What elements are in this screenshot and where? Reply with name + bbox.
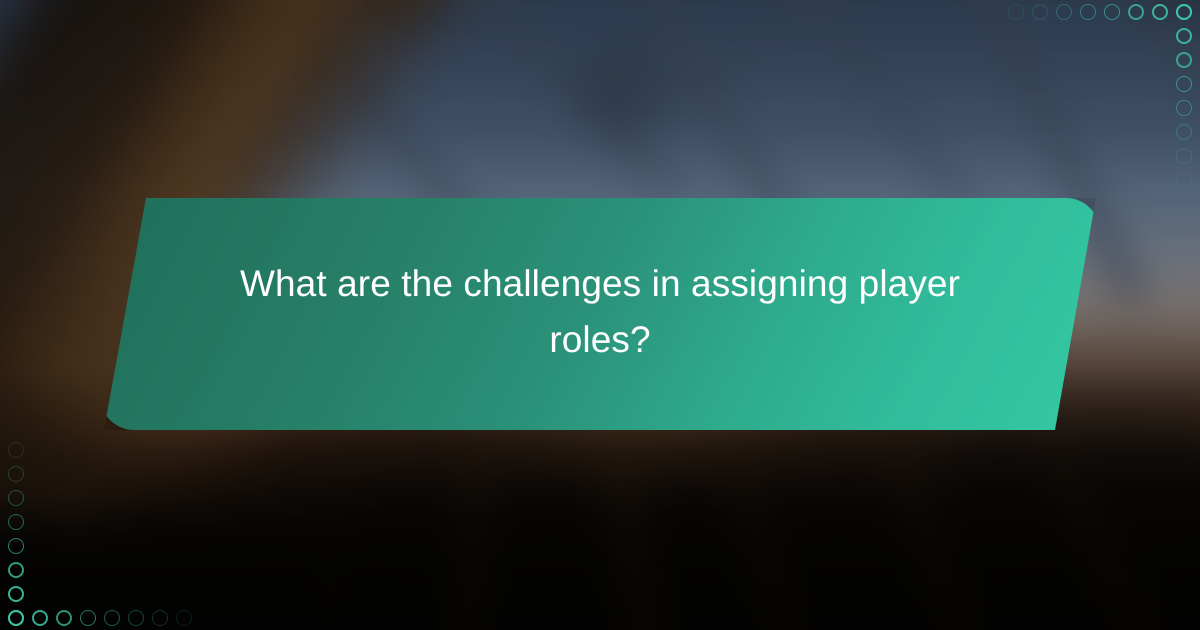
ring-icon	[8, 466, 24, 482]
ring-icon	[1056, 4, 1072, 20]
question-card: What are the challenges in assigning pla…	[100, 198, 1100, 430]
ring-icon	[8, 538, 24, 554]
ring-icon	[1176, 148, 1192, 164]
question-text: What are the challenges in assigning pla…	[220, 256, 980, 368]
ring-icon	[8, 442, 24, 458]
ring-icon	[176, 610, 192, 626]
ring-icon	[1032, 4, 1048, 20]
social-card-canvas: What are the challenges in assigning pla…	[0, 0, 1200, 630]
ring-icon	[32, 610, 48, 626]
ring-icon	[8, 562, 24, 578]
ring-icon	[8, 586, 24, 602]
decoration-rings-top-right-column	[1176, 4, 1192, 188]
decoration-rings-bottom-left-column	[8, 442, 24, 626]
ring-icon	[1008, 4, 1024, 20]
ring-icon	[56, 610, 72, 626]
ring-icon	[152, 610, 168, 626]
ring-icon	[1080, 4, 1096, 20]
ring-icon	[1176, 28, 1192, 44]
ring-icon	[1104, 4, 1120, 20]
ring-icon	[8, 490, 24, 506]
ring-icon	[1176, 76, 1192, 92]
ring-icon	[1152, 4, 1168, 20]
question-card-content: What are the challenges in assigning pla…	[100, 198, 1100, 430]
ring-icon	[1176, 100, 1192, 116]
ring-icon	[80, 610, 96, 626]
ring-icon	[1176, 124, 1192, 140]
ring-icon	[8, 514, 24, 530]
ring-icon	[8, 610, 24, 626]
ring-icon	[1176, 52, 1192, 68]
ring-icon	[1176, 4, 1192, 20]
ring-icon	[128, 610, 144, 626]
decoration-rings-bottom-left-row	[8, 610, 192, 626]
ring-icon	[1128, 4, 1144, 20]
ring-icon	[104, 610, 120, 626]
ring-icon	[1176, 172, 1192, 188]
decoration-rings-top-right-row	[1008, 4, 1192, 20]
